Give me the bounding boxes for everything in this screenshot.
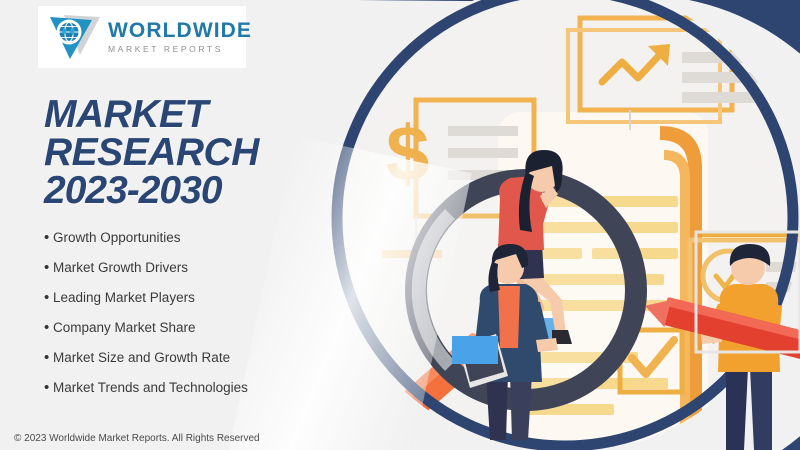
left-panel: WORLDWIDE MARKET REPORTS MARKET RESEARCH…	[0, 0, 340, 450]
list-item: • Growth Opportunities	[44, 230, 334, 260]
list-item: • Market Size and Growth Rate	[44, 350, 334, 380]
list-item: • Market Trends and Technologies	[44, 380, 334, 410]
headline-line-3: 2023-2030	[44, 172, 259, 210]
page-title: MARKET RESEARCH 2023-2030	[44, 96, 259, 211]
bullet-marker-icon: •	[44, 260, 53, 275]
bullet-marker-icon: •	[44, 320, 53, 335]
illustration: MARK	[330, 0, 800, 450]
list-item: • Company Market Share	[44, 320, 334, 350]
feature-list: • Growth Opportunities • Market Growth D…	[44, 230, 334, 410]
marketing-banner: MARK	[0, 0, 800, 450]
logo[interactable]: WORLDWIDE MARKET REPORTS	[38, 6, 246, 68]
list-item-label: Leading Market Players	[53, 290, 334, 305]
bullet-marker-icon: •	[44, 230, 53, 245]
dollar-sign-icon: $	[386, 109, 429, 197]
bullet-marker-icon: •	[44, 350, 53, 365]
list-item-label: Market Trends and Technologies	[53, 380, 334, 395]
list-item: • Market Growth Drivers	[44, 260, 334, 290]
sw-hand-right	[536, 338, 558, 352]
logo-wordmark: WORLDWIDE MARKET REPORTS	[108, 20, 252, 54]
list-item-label: Market Growth Drivers	[53, 260, 334, 275]
list-item: • Leading Market Players	[44, 290, 334, 320]
list-item-label: Growth Opportunities	[53, 230, 334, 245]
blue-note	[452, 336, 498, 364]
headline-line-2: RESEARCH	[44, 134, 259, 172]
list-item-label: Market Size and Growth Rate	[53, 350, 334, 365]
copyright-notice: © 2023 Worldwide Market Reports. All Rig…	[14, 433, 260, 444]
headline-line-1: MARKET	[44, 96, 259, 134]
bullet-marker-icon: •	[44, 380, 53, 395]
logo-title: WORLDWIDE	[108, 20, 252, 41]
globe-triangle-logo-icon	[46, 11, 102, 63]
bullet-marker-icon: •	[44, 290, 53, 305]
list-item-label: Company Market Share	[53, 320, 334, 335]
sw-inner-top	[498, 286, 520, 348]
logo-subtitle: MARKET REPORTS	[108, 45, 252, 54]
